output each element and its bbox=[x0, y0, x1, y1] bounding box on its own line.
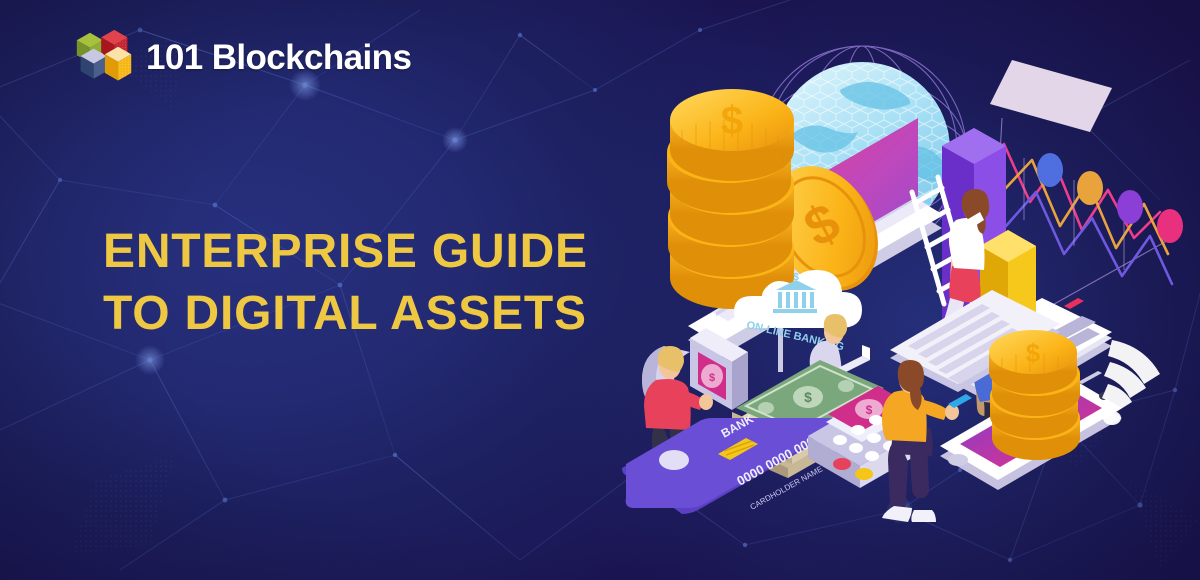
coin-stack-small-icon: $ bbox=[989, 330, 1080, 460]
svg-text:$: $ bbox=[793, 272, 799, 283]
brand-logo[interactable]: 101 Blockchains bbox=[74, 27, 411, 89]
headline-line-2: TO DIGITAL ASSETS bbox=[103, 283, 588, 345]
promo-banner: 101 Blockchains ENTERPRISE GUIDE TO DIGI… bbox=[0, 0, 1200, 580]
held-phone bbox=[948, 394, 972, 408]
pos-button-yellow bbox=[855, 468, 873, 480]
pos-button-red bbox=[833, 458, 851, 470]
svg-text:$: $ bbox=[1026, 338, 1041, 368]
phone-home-button bbox=[948, 454, 968, 466]
four-isometric-cubes-logo-icon bbox=[74, 27, 134, 89]
brand-name: 101 Blockchains bbox=[146, 38, 411, 78]
phone-speaker bbox=[1078, 371, 1102, 384]
report-marker bbox=[1064, 298, 1084, 309]
coin-stack-large-icon: $ bbox=[667, 89, 794, 309]
dot-blue-icon bbox=[1037, 153, 1063, 187]
svg-text:$: $ bbox=[709, 372, 715, 384]
dot-purple-icon bbox=[1117, 190, 1143, 224]
dot-pink-icon bbox=[1157, 209, 1183, 243]
dot-orange-icon bbox=[1077, 171, 1103, 205]
isometric-digital-assets-illustration: $ bbox=[612, 40, 1192, 545]
headline-line-1: ENTERPRISE GUIDE bbox=[103, 221, 588, 283]
wifi-signal-icon bbox=[1102, 340, 1160, 425]
svg-text:$: $ bbox=[866, 403, 873, 417]
svg-text:$: $ bbox=[804, 389, 812, 405]
page-title: ENTERPRISE GUIDE TO DIGITAL ASSETS bbox=[103, 221, 588, 345]
chart-dot-legend bbox=[1037, 153, 1183, 243]
svg-text:$: $ bbox=[721, 99, 743, 143]
